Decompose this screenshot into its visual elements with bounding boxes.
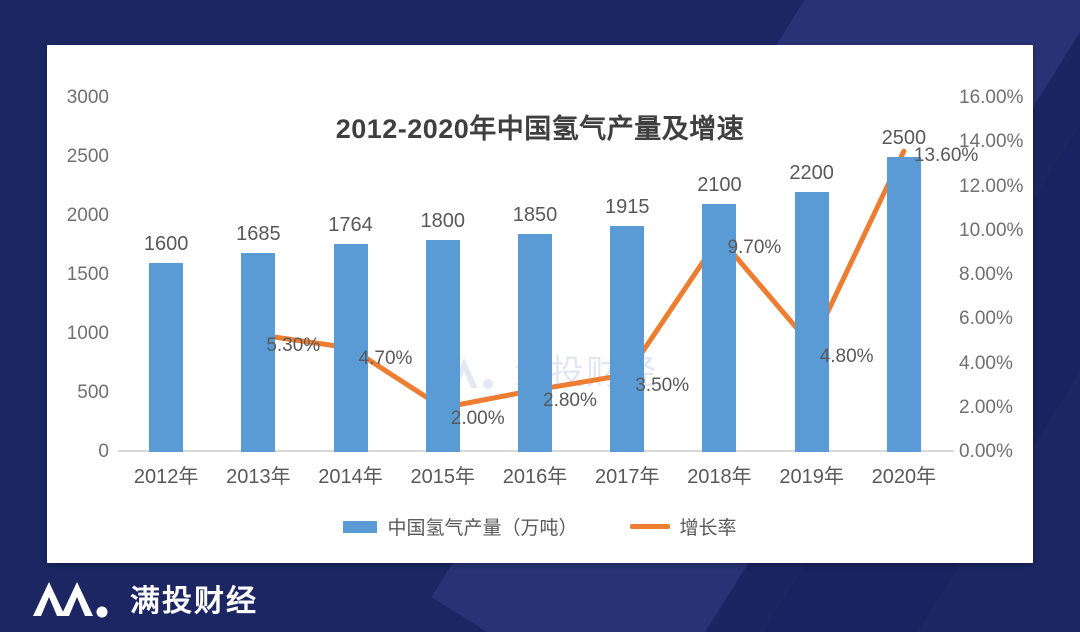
legend-item[interactable]: 增长率 <box>630 513 737 540</box>
y-tick-left: 3000 <box>67 87 109 109</box>
bar-value-label: 1915 <box>582 196 672 219</box>
x-tick-2015年: 2015年 <box>397 460 489 489</box>
bar-value-label: 1685 <box>213 223 303 246</box>
bar-value-label: 1850 <box>490 204 580 227</box>
x-tick-2014年: 2014年 <box>305 460 397 489</box>
y-tick-right: 12.00% <box>959 176 1023 198</box>
line-value-label: 3.50% <box>635 375 689 397</box>
bar-2016年 <box>518 234 552 452</box>
legend-item[interactable]: 中国氢气产量（万吨） <box>343 513 577 540</box>
y-tick-right: 6.00% <box>959 308 1013 330</box>
mountain-peaks-icon <box>30 575 116 621</box>
chart-legend: 中国氢气产量（万吨）增长率 <box>47 513 1033 540</box>
y-tick-left: 2000 <box>67 205 109 227</box>
legend-label: 中国氢气产量（万吨） <box>387 513 577 540</box>
bar-value-label: 2200 <box>767 162 857 185</box>
legend-line-swatch-icon <box>630 524 670 529</box>
bar-2012年 <box>149 263 183 452</box>
legend-bar-swatch-icon <box>343 521 377 533</box>
line-value-label: 2.80% <box>543 390 597 412</box>
line-value-label: 4.80% <box>820 346 874 368</box>
line-value-label: 5.30% <box>266 335 320 357</box>
bar-2017年 <box>610 226 644 452</box>
y-tick-right: 2.00% <box>959 397 1013 419</box>
y-axis-left: 050010001500200025003000 <box>47 98 109 452</box>
y-tick-right: 0.00% <box>959 441 1013 463</box>
y-tick-left: 2500 <box>67 146 109 168</box>
x-tick-2012年: 2012年 <box>120 460 212 489</box>
bar-value-label: 1800 <box>398 210 488 233</box>
y-tick-right: 16.00% <box>959 87 1023 109</box>
line-value-label: 4.70% <box>359 348 413 370</box>
y-tick-left: 500 <box>77 382 109 404</box>
x-tick-2017年: 2017年 <box>581 460 673 489</box>
y-tick-right: 4.00% <box>959 353 1013 375</box>
y-tick-right: 10.00% <box>959 220 1023 242</box>
x-axis: 2012年2013年2014年2015年2016年2017年2018年2019年… <box>120 460 950 494</box>
y-tick-left: 1500 <box>67 264 109 286</box>
brand-logo: 满投财经 <box>30 575 258 621</box>
x-tick-2016年: 2016年 <box>489 460 581 489</box>
bar-value-label: 2100 <box>674 174 764 197</box>
x-tick-2013年: 2013年 <box>212 460 304 489</box>
bar-value-label: 1600 <box>121 233 211 256</box>
line-value-label: 2.00% <box>451 408 505 430</box>
bar-2020年 <box>887 157 921 452</box>
line-value-label: 9.70% <box>727 237 781 259</box>
y-tick-right: 8.00% <box>959 264 1013 286</box>
chart-card: 2012-2020年中国氢气产量及增速 满投财经 050010001500200… <box>47 45 1033 563</box>
legend-label: 增长率 <box>680 513 737 540</box>
y-tick-left: 0 <box>98 441 109 463</box>
line-value-label: 13.60% <box>914 145 978 167</box>
x-tick-2018年: 2018年 <box>673 460 765 489</box>
y-tick-left: 1000 <box>67 323 109 345</box>
x-tick-2020年: 2020年 <box>858 460 950 489</box>
brand-name: 满投财经 <box>130 576 258 620</box>
x-tick-2019年: 2019年 <box>766 460 858 489</box>
bar-2019年 <box>795 192 829 452</box>
bar-value-label: 1764 <box>306 214 396 237</box>
plot-area: 1600168517641800185019152100220025005.30… <box>120 98 950 452</box>
